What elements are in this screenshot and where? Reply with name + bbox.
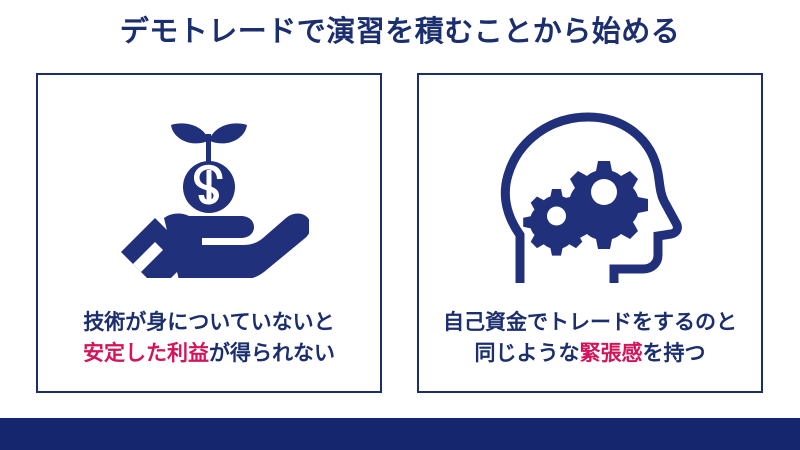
head-with-gears-icon bbox=[490, 103, 690, 283]
card-left-caption: 技術が身についていないと 安定した利益が得られない bbox=[38, 308, 380, 369]
card-right-caption-highlight: 緊張感 bbox=[580, 342, 643, 365]
card-left-caption-line1: 技術が身についていないと bbox=[38, 308, 380, 338]
card-right-caption-line1: 自己資金でトレードをするのと bbox=[419, 308, 761, 338]
card-right-caption: 自己資金でトレードをするのと 同じような緊張感を持つ bbox=[419, 308, 761, 369]
card-right-caption-post: を持つ bbox=[643, 342, 706, 365]
card-left-icon-area bbox=[38, 95, 380, 290]
card-left-caption-rest: が得られない bbox=[209, 342, 335, 365]
card-right-icon-area bbox=[419, 95, 761, 290]
card-right: 自己資金でトレードをするのと 同じような緊張感を持つ bbox=[417, 73, 763, 393]
hand-holding-money-plant-icon bbox=[109, 108, 309, 278]
card-left-caption-highlight: 安定した利益 bbox=[83, 342, 209, 365]
card-right-caption-pre: 同じような bbox=[475, 342, 580, 365]
card-left: 技術が身についていないと 安定した利益が得られない bbox=[36, 73, 382, 393]
bottom-bar bbox=[0, 418, 800, 450]
card-right-caption-line2: 同じような緊張感を持つ bbox=[419, 339, 761, 369]
page-title: デモトレードで演習を積むことから始める bbox=[0, 14, 800, 52]
card-left-caption-line2: 安定した利益が得られない bbox=[38, 339, 380, 369]
